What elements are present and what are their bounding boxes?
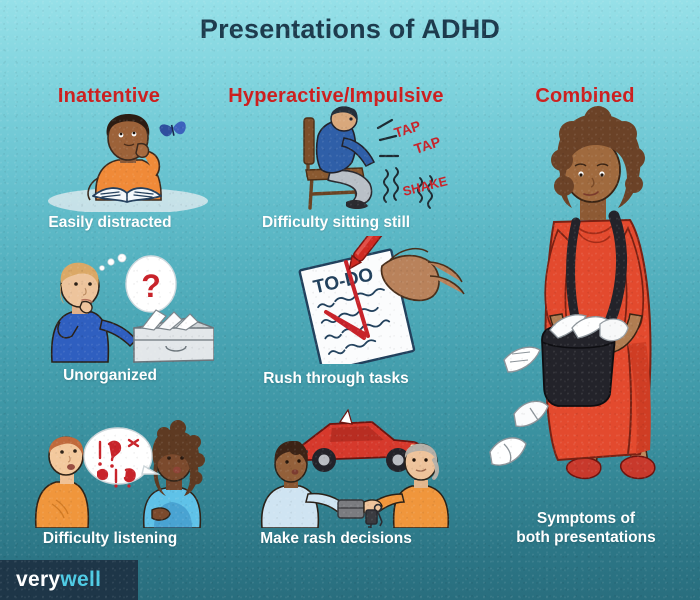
caption-make-rash-decisions: Make rash decisions <box>224 529 448 548</box>
verywell-logo: verywell <box>0 560 138 600</box>
illustration-difficulty-sitting-still: TAP TAP SHAKE <box>288 106 448 212</box>
page-title: Presentations of ADHD <box>0 14 700 45</box>
svg-text:?: ? <box>141 268 161 304</box>
sound-word-tap-2: TAP <box>412 133 443 157</box>
logo-text-well: well <box>60 568 101 592</box>
column-heading-hyperactive-impulsive: Hyperactive/Impulsive <box>222 85 450 108</box>
illustration-easily-distracted <box>38 108 212 212</box>
illustration-unorganized: ? <box>38 250 214 364</box>
sound-word-tap-1: TAP <box>392 117 423 141</box>
caption-difficulty-sitting-still: Difficulty sitting still <box>224 213 448 232</box>
illustration-rush-through-tasks: TO-DO <box>290 236 472 364</box>
caption-easily-distracted: Easily distracted <box>4 213 216 232</box>
illustration-combined-symptoms <box>476 104 700 504</box>
caption-difficulty-listening: Difficulty listening <box>4 529 216 548</box>
caption-combined-symptoms: Symptoms of both presentations <box>472 509 700 548</box>
illustration-difficulty-listening <box>26 408 216 528</box>
adhd-presentations-infographic: Presentations of ADHD Inattentive Hypera… <box>0 0 700 600</box>
column-heading-inattentive: Inattentive <box>0 85 218 108</box>
sound-word-shake: SHAKE <box>401 173 448 199</box>
caption-rush-through-tasks: Rush through tasks <box>224 369 448 388</box>
illustration-make-rash-decisions <box>252 404 458 528</box>
logo-text-very: very <box>16 568 60 592</box>
caption-unorganized: Unorganized <box>4 366 216 385</box>
